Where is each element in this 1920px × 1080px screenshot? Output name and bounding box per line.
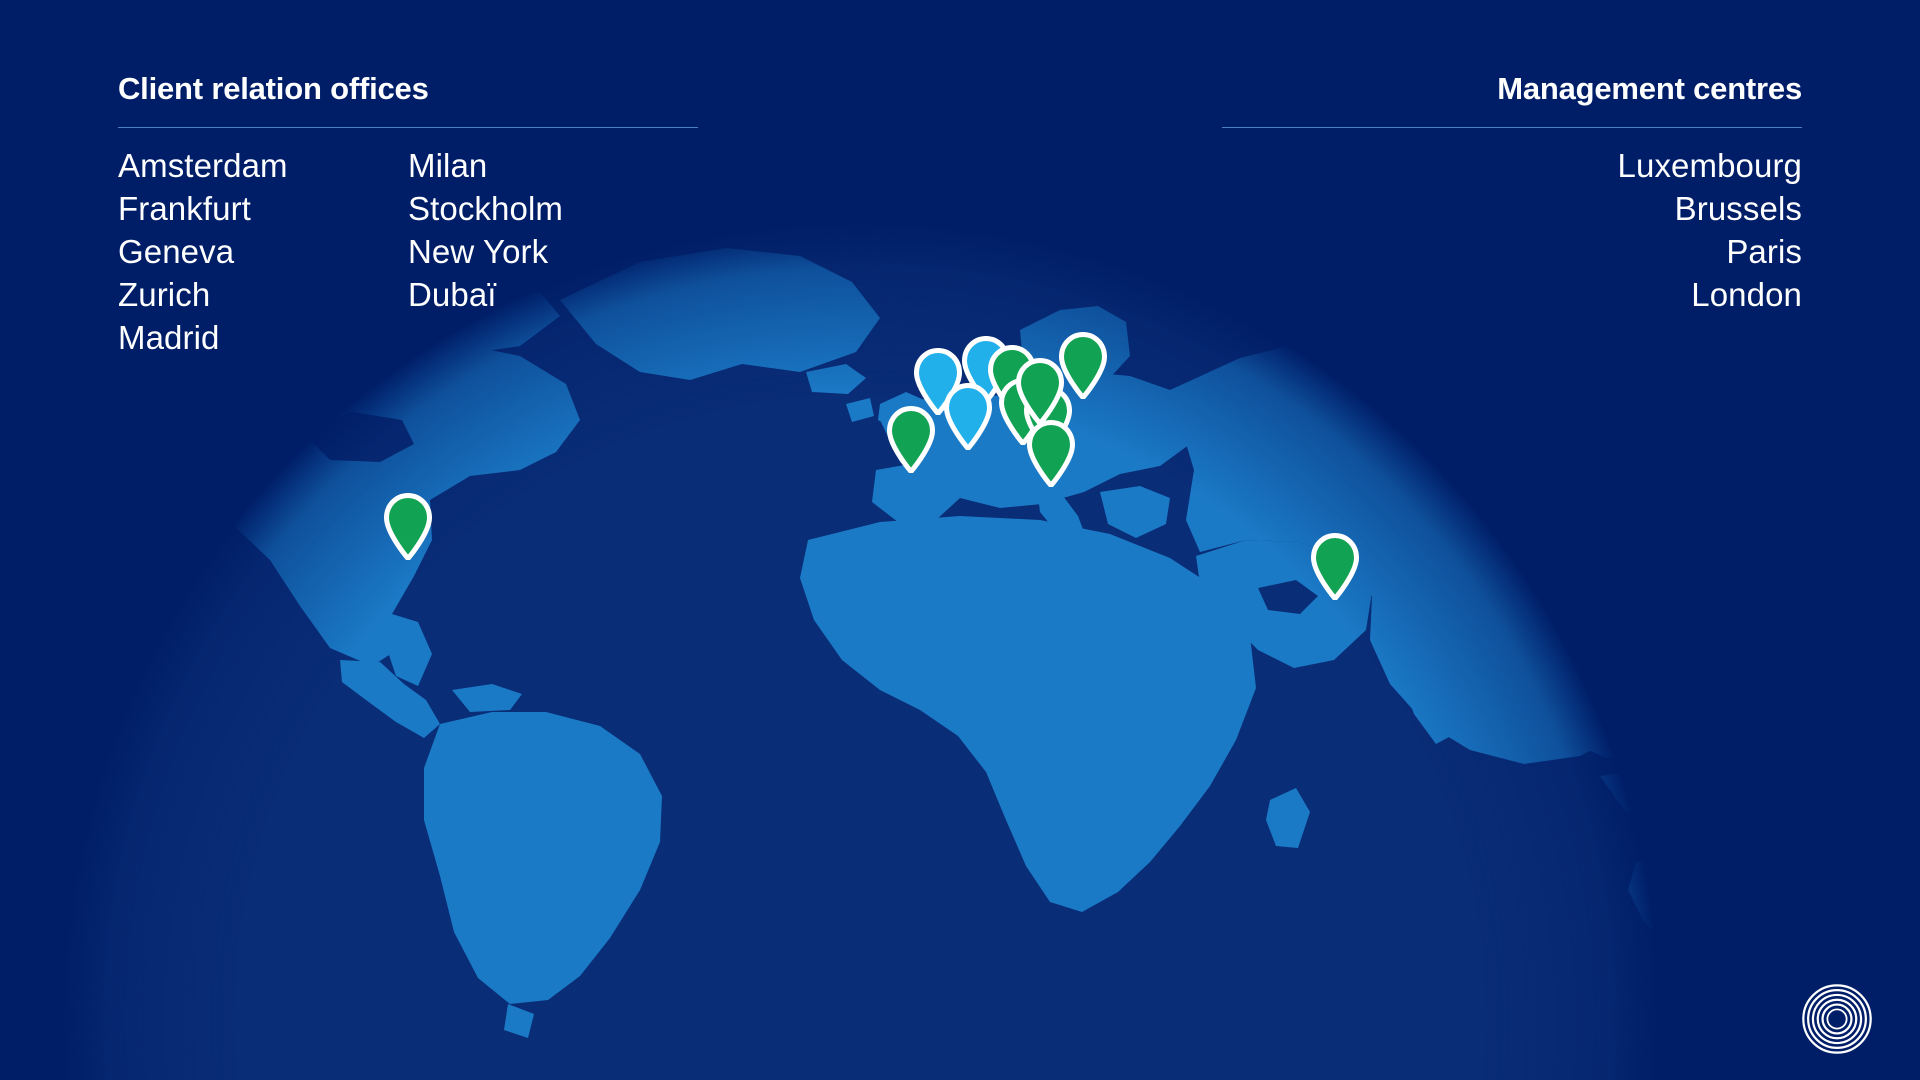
map-pin-dubai[interactable] [1309,532,1361,605]
city-item-milan: Milan [408,144,698,187]
city-item-new-york: New York [408,230,698,273]
client-offices-column-one: AmsterdamFrankfurtGenevaZurichMadrid [118,144,408,359]
right-panel-divider [1222,127,1802,128]
map-pin-icon [382,492,434,560]
map-pin-milan[interactable] [1025,419,1077,492]
management-centres-panel: Management centres LuxembourgBrusselsPar… [1222,72,1802,316]
map-pin-stockholm[interactable] [1057,331,1109,404]
logo-arc [1827,1009,1837,1019]
management-centres-title: Management centres [1222,72,1802,106]
client-offices-column-two: MilanStockholmNew YorkDubaï [408,144,698,359]
city-item-geneva: Geneva [118,230,408,273]
city-item-paris: Paris [1618,230,1802,273]
logo-arc [1837,1009,1847,1019]
city-item-madrid: Madrid [118,316,408,359]
city-item-stockholm: Stockholm [408,187,698,230]
city-item-zurich: Zurich [118,273,408,316]
city-item-amsterdam: Amsterdam [118,144,408,187]
city-item-duba-: Dubaï [408,273,698,316]
client-offices-columns: AmsterdamFrankfurtGenevaZurichMadrid Mil… [118,144,698,359]
city-item-brussels: Brussels [1618,187,1802,230]
management-centres-column: LuxembourgBrusselsParisLondon [1618,144,1802,316]
client-relation-offices-title: Client relation offices [118,72,698,106]
map-pin-icon [1025,419,1077,487]
city-item-london: London [1618,273,1802,316]
city-item-frankfurt: Frankfurt [118,187,408,230]
client-relation-offices-panel: Client relation offices AmsterdamFrankfu… [118,72,698,359]
map-pin-new-york[interactable] [382,492,434,565]
city-item-luxembourg: Luxembourg [1618,144,1802,187]
map-pin-icon [1057,331,1109,399]
map-pin-icon [1309,532,1361,600]
logo-arc [1837,1019,1847,1029]
left-panel-divider [118,127,698,128]
pinwheel-rosette-logo [1800,982,1874,1056]
slide-root: Client relation offices AmsterdamFrankfu… [0,0,1920,1080]
management-centres-columns: LuxembourgBrusselsParisLondon [1222,144,1802,316]
logo-svg [1800,982,1874,1056]
logo-arc [1827,1019,1837,1029]
